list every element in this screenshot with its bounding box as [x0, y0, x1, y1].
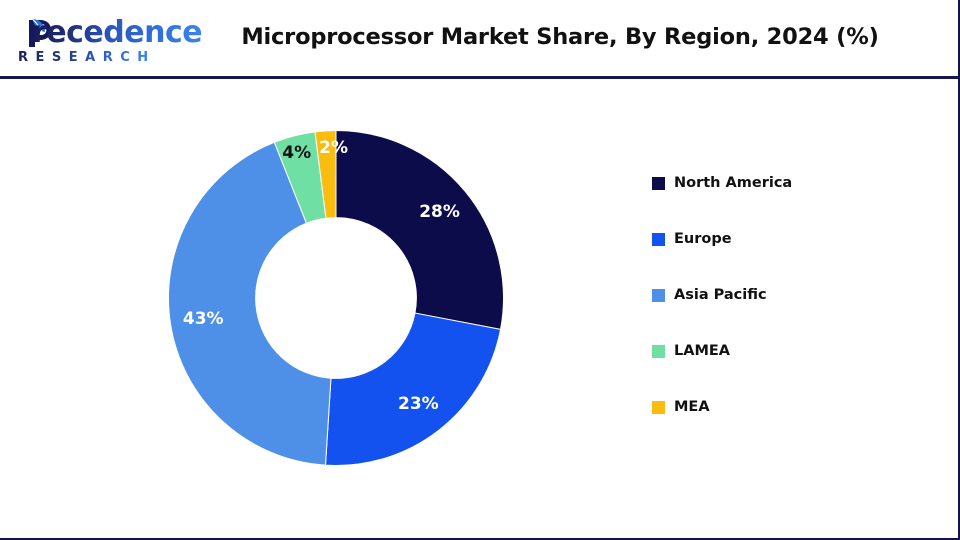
header-bar: recedence RESEARCH Microprocessor Market…	[0, 0, 958, 79]
legend-item-mea[interactable]: MEA	[652, 399, 882, 455]
precedence-research-logo: recedence RESEARCH	[16, 17, 206, 69]
chart-infographic: recedence RESEARCH Microprocessor Market…	[0, 0, 960, 540]
legend-label: LAMEA	[674, 343, 730, 359]
logo-wordmark: recedence	[32, 17, 202, 49]
page-title: Microprocessor Market Share, By Region, …	[210, 24, 910, 50]
legend-swatch-icon	[652, 177, 665, 190]
legend-label: MEA	[674, 399, 710, 415]
chart-plot-area: 28%23%43%4%2% North America Europe Asia …	[0, 79, 958, 538]
legend-swatch-icon	[652, 401, 665, 414]
legend-item-north-america[interactable]: North America	[652, 175, 882, 231]
donut-slice[interactable]	[325, 313, 500, 465]
legend-item-lamea[interactable]: LAMEA	[652, 343, 882, 399]
legend-swatch-icon	[652, 345, 665, 358]
donut-chart-svg	[168, 130, 504, 466]
chart-legend: North America Europe Asia Pacific LAMEA …	[652, 175, 882, 455]
legend-label: Asia Pacific	[674, 287, 767, 303]
slice-value-label: 28%	[419, 202, 460, 222]
donut-slice-group	[169, 131, 504, 466]
donut-chart: 28%23%43%4%2%	[168, 130, 504, 466]
legend-item-europe[interactable]: Europe	[652, 231, 882, 287]
legend-label: Europe	[674, 231, 732, 247]
slice-value-label: 23%	[398, 394, 439, 414]
slice-value-label: 43%	[183, 309, 224, 329]
legend-label: North America	[674, 175, 792, 191]
donut-slice[interactable]	[336, 131, 504, 330]
slice-value-label: 4%	[282, 143, 311, 163]
logo-subtitle: RESEARCH	[18, 50, 156, 65]
slice-value-label: 2%	[319, 138, 348, 158]
legend-swatch-icon	[652, 289, 665, 302]
legend-swatch-icon	[652, 233, 665, 246]
legend-item-asia-pacific[interactable]: Asia Pacific	[652, 287, 882, 343]
